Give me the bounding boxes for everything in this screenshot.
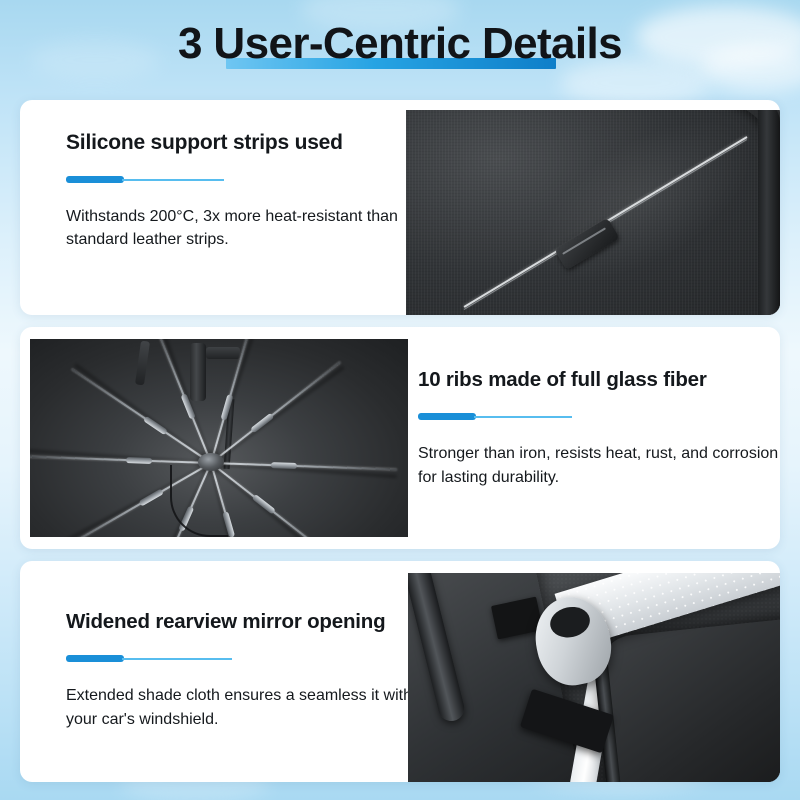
divider-thin-segment [122, 658, 232, 660]
product-photo-mirror-opening [408, 573, 780, 782]
card-heading: Widened rearview mirror opening [66, 609, 434, 635]
feature-card-silicone-support-strips: Silicone support strips used Withstands … [20, 100, 780, 315]
sunshade-panel [406, 110, 780, 315]
card-text-block: Widened rearview mirror opening Extended… [66, 609, 434, 732]
card-heading: Silicone support strips used [66, 130, 416, 156]
accent-divider [418, 413, 780, 420]
accent-divider [66, 176, 416, 183]
strap-loop-opening [547, 603, 592, 641]
card-text-block: Silicone support strips used Withstands … [66, 130, 416, 251]
product-photo-silicone-strip [406, 110, 780, 315]
divider-thick-segment [66, 655, 124, 662]
card-text-block: 10 ribs made of full glass fiber Stronge… [418, 367, 780, 490]
card-body-text: Stronger than iron, resists heat, rust, … [418, 442, 780, 490]
product-photo-umbrella-ribs [30, 339, 408, 537]
card-body-text: Extended shade cloth ensures a seamless … [66, 684, 434, 732]
feature-card-glass-fiber-ribs: 10 ribs made of full glass fiber Stronge… [20, 327, 780, 549]
card-heading: 10 ribs made of full glass fiber [418, 367, 780, 393]
accent-divider [66, 655, 434, 662]
page-title: 3 User-Centric Details [0, 18, 800, 82]
divider-thick-segment [418, 413, 476, 420]
feature-card-rearview-mirror-opening: Widened rearview mirror opening Extended… [20, 561, 780, 782]
right-shade-panel [595, 616, 780, 782]
divider-thin-segment [122, 179, 224, 181]
card-body-text: Withstands 200°C, 3x more heat-resistant… [66, 205, 416, 251]
divider-thick-segment [66, 176, 124, 183]
divider-thin-segment [474, 416, 572, 418]
umbrella-handle-grip [206, 347, 240, 359]
page-title-text: 3 User-Centric Details [178, 18, 622, 70]
umbrella-handle [190, 343, 206, 401]
umbrella-center-hub [198, 453, 224, 471]
panel-edge [758, 110, 780, 315]
